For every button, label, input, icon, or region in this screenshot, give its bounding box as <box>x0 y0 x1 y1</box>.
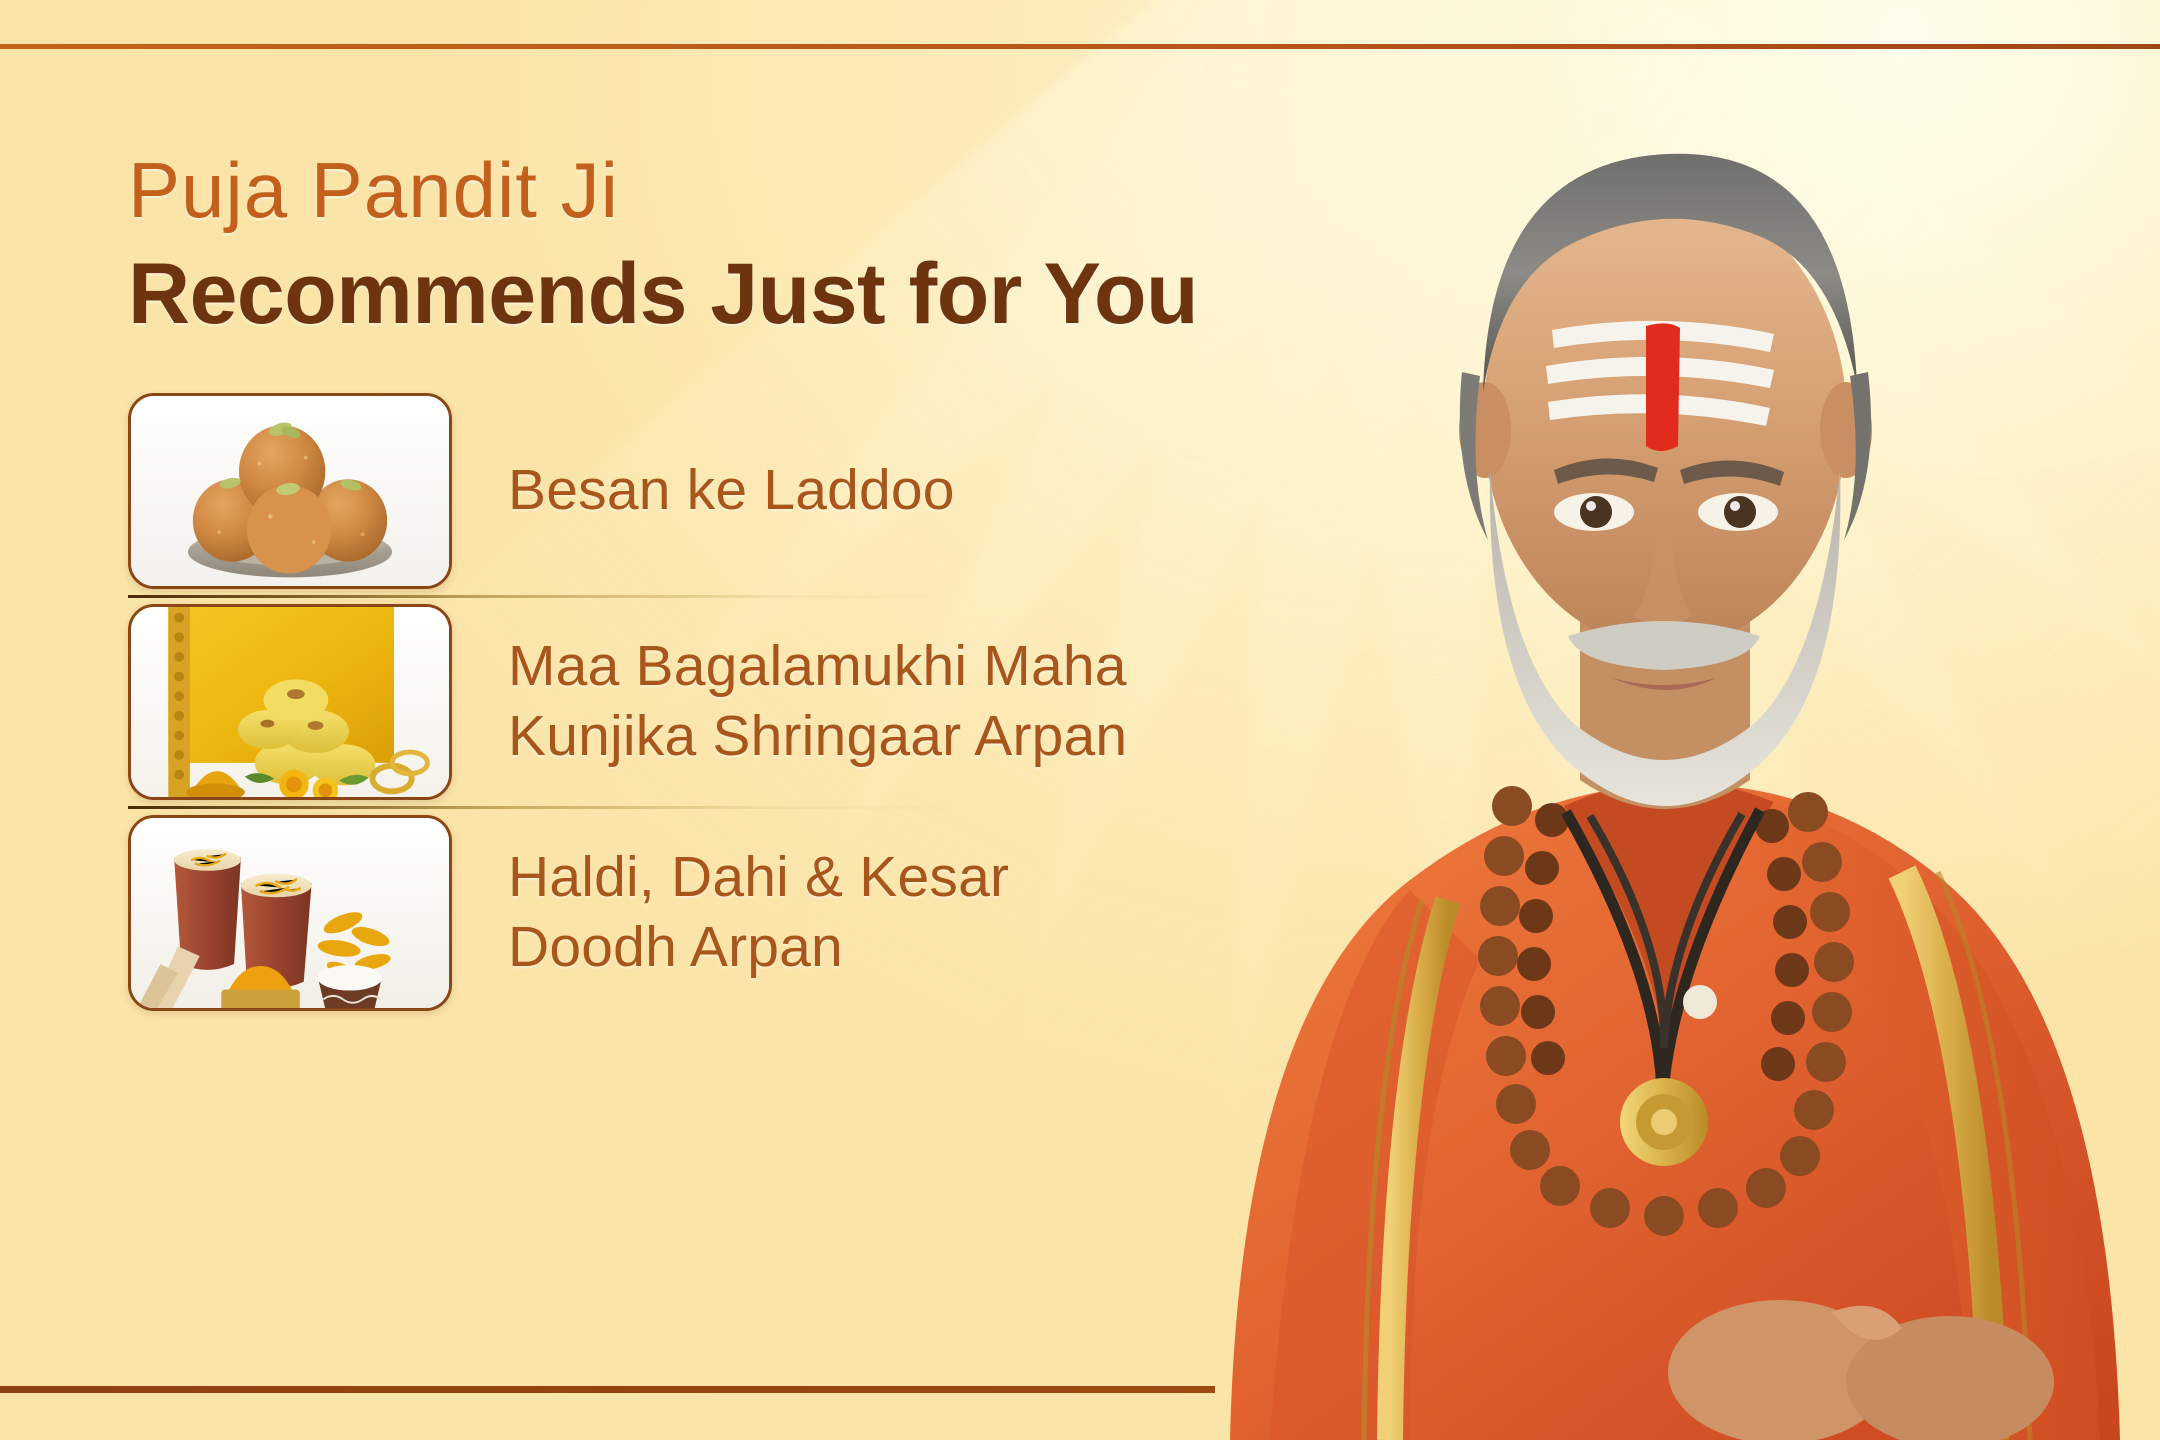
besan-laddoo-thumbnail[interactable] <box>128 393 452 589</box>
sun-glow-decoration <box>1253 0 2160 480</box>
recommendation-list: Besan ke Laddoo <box>128 393 1208 1011</box>
list-item[interactable]: Maa Bagalamukhi Maha Kunjika Shringaar A… <box>128 604 1208 800</box>
list-item[interactable]: Haldi, Dahi & Kesar Doodh Arpan <box>128 815 1208 1011</box>
list-item[interactable]: Besan ke Laddoo <box>128 393 1208 589</box>
list-divider <box>128 806 968 809</box>
list-item-label: Haldi, Dahi & Kesar Doodh Arpan <box>508 843 1009 982</box>
bagalamukhi-shringaar-thumbnail[interactable] <box>128 604 452 800</box>
banner-kicker: Puja Pandit Ji <box>128 150 1198 232</box>
recommendation-banner: Puja Pandit Ji Recommends Just for You <box>0 0 2160 1440</box>
content-column: Puja Pandit Ji Recommends Just for You <box>128 150 1198 1011</box>
list-item-label: Maa Bagalamukhi Maha Kunjika Shringaar A… <box>508 632 1127 771</box>
top-divider-rule <box>0 44 2160 49</box>
banner-headline: Recommends Just for You <box>128 248 1198 341</box>
list-divider <box>128 595 968 598</box>
haldi-dahi-kesar-doodh-thumbnail[interactable] <box>128 815 452 1011</box>
list-item-label: Besan ke Laddoo <box>508 456 955 526</box>
pandit-ji-portrait <box>1160 0 2160 1440</box>
bottom-divider-rule <box>0 1386 1215 1393</box>
